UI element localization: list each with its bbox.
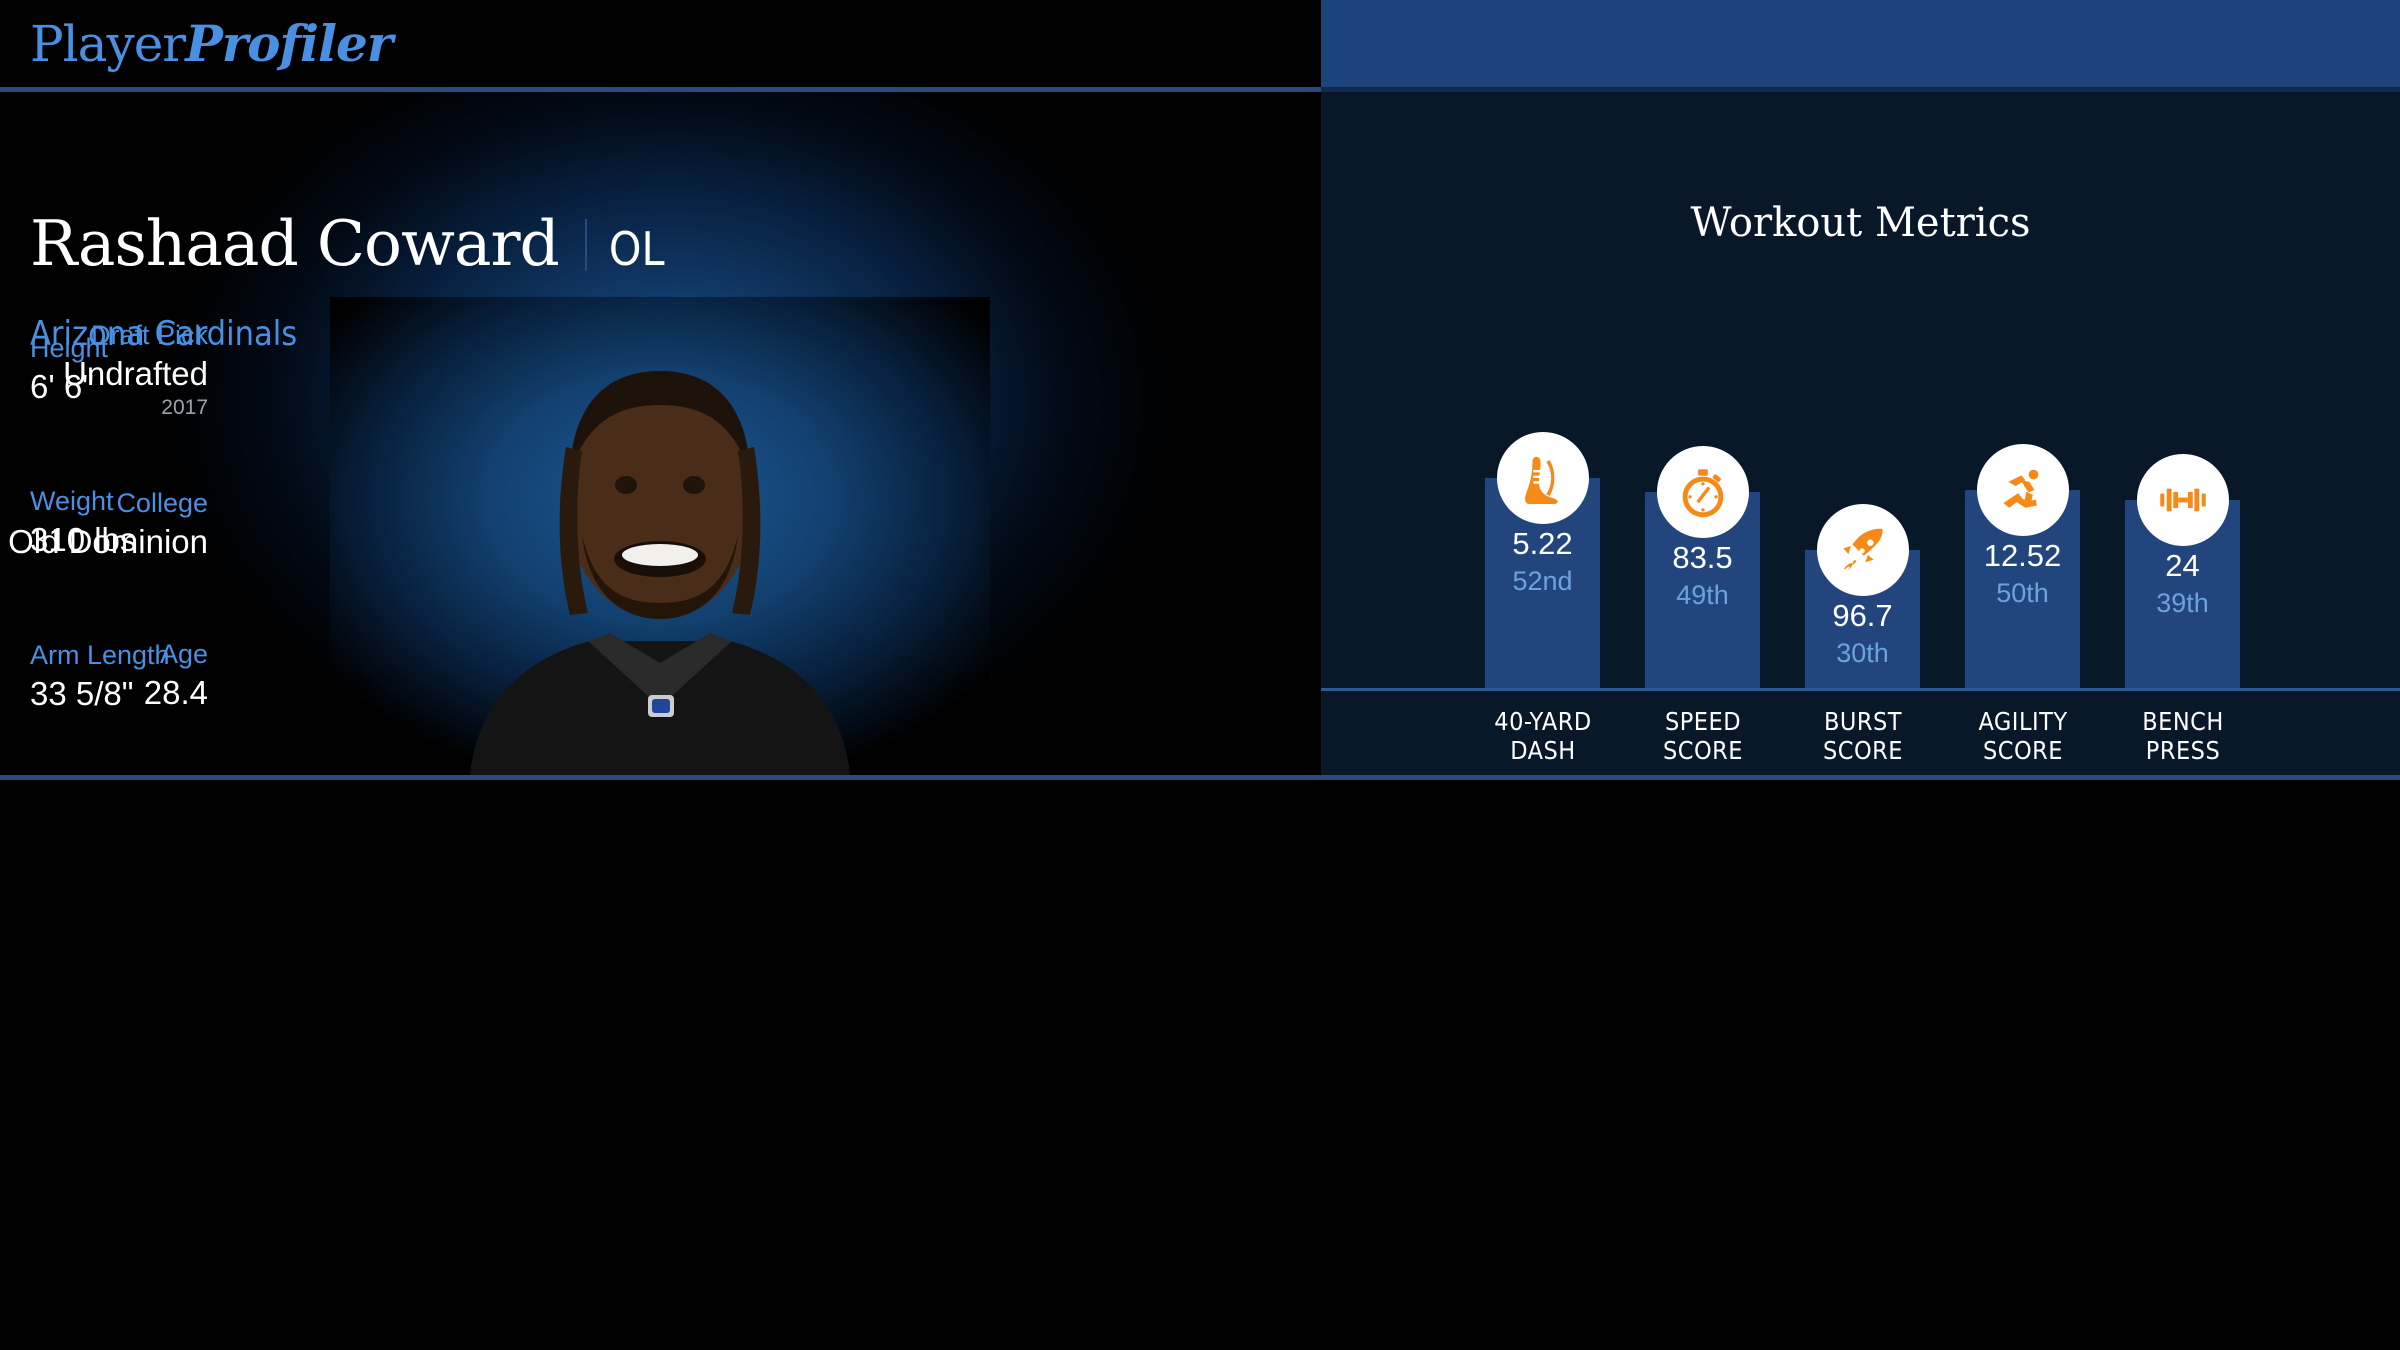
stat-college: College Old Dominion (8, 487, 208, 562)
running-shoe-icon (1497, 432, 1589, 524)
chart-bar-percentile: 39th (2125, 588, 2240, 619)
top-bar: PlayerProfiler BEST COMPARABLE (0, 0, 2400, 92)
label-line-1: BURST (1793, 708, 1933, 737)
label-line-2: PRESS (2113, 737, 2253, 766)
stat-value: Old Dominion (8, 521, 208, 562)
label-line-1: 40-YARD (1473, 708, 1613, 737)
chart-bar-percentile: 50th (1965, 578, 2080, 609)
chart-bar-value: 96.7 (1805, 598, 1920, 634)
stat-subvalue: 2017 (63, 394, 208, 421)
stat-age: Age 28.4 (144, 638, 208, 713)
page-empty-area (0, 780, 2400, 1350)
dumbbell-icon (2137, 454, 2229, 546)
rocket-icon (1817, 504, 1909, 596)
chart-bar-percentile: 49th (1645, 580, 1760, 611)
chart-label-40-yard-dash: 40-YARD DASH (1473, 708, 1613, 766)
best-comparable-banner: BEST COMPARABLE (1321, 0, 2400, 92)
label-line-2: SCORE (1793, 737, 1933, 766)
player-name: Rashaad Coward (30, 207, 559, 280)
player-overview-panel: Rashaad CowardOL Arizona Cardinals Heigh… (0, 92, 1321, 775)
logo-text-profiler: Profiler (185, 14, 392, 73)
label-line-1: AGILITY (1953, 708, 2093, 737)
stat-draft-pick: Draft Pick Undrafted 2017 (63, 319, 208, 421)
stat-label: College (8, 487, 208, 521)
chart-bar-value: 5.22 (1485, 526, 1600, 562)
name-position-divider (585, 219, 587, 271)
chart-category-labels: 40-YARD DASH SPEED SCORE BURST SCORE AGI… (1321, 691, 2400, 775)
label-line-2: SCORE (1953, 737, 2093, 766)
brand-bar: PlayerProfiler (0, 0, 1321, 92)
stat-label: Draft Pick (63, 319, 208, 353)
playerprofiler-logo[interactable]: PlayerProfiler (30, 14, 392, 73)
stopwatch-icon (1657, 446, 1749, 538)
chart-bar-percentile: 52nd (1485, 566, 1600, 597)
stat-value: 28.4 (144, 672, 208, 713)
label-line-1: BENCH (2113, 708, 2253, 737)
profile-content: Rashaad CowardOL Arizona Cardinals Heigh… (0, 92, 2400, 775)
label-line-2: SCORE (1633, 737, 1773, 766)
chart-bar-value: 12.52 (1965, 538, 2080, 574)
stat-label: Age (144, 638, 208, 672)
chart-bar-value: 24 (2125, 548, 2240, 584)
workout-metrics-chart: 5.22 52nd 83.5 49th (1321, 92, 2400, 688)
chart-bar-value: 83.5 (1645, 540, 1760, 576)
chart-label-speed-score: SPEED SCORE (1633, 708, 1773, 766)
chart-label-burst-score: BURST SCORE (1793, 708, 1933, 766)
label-line-2: DASH (1473, 737, 1613, 766)
runner-icon (1977, 444, 2069, 536)
workout-metrics-panel: Workout Metrics 5.22 52nd (1321, 92, 2400, 775)
player-position: OL (609, 222, 665, 276)
chart-label-bench-press: BENCH PRESS (2113, 708, 2253, 766)
player-profile-page: PlayerProfiler BEST COMPARABLE (0, 0, 2400, 1350)
logo-text-player: Player (30, 15, 185, 73)
label-line-1: SPEED (1633, 708, 1773, 737)
chart-label-agility-score: AGILITY SCORE (1953, 708, 2093, 766)
page-title: Rashaad CowardOL (30, 207, 665, 280)
stat-value: Undrafted (63, 353, 208, 394)
chart-bar-percentile: 30th (1805, 638, 1920, 669)
player-headshot (330, 297, 990, 775)
